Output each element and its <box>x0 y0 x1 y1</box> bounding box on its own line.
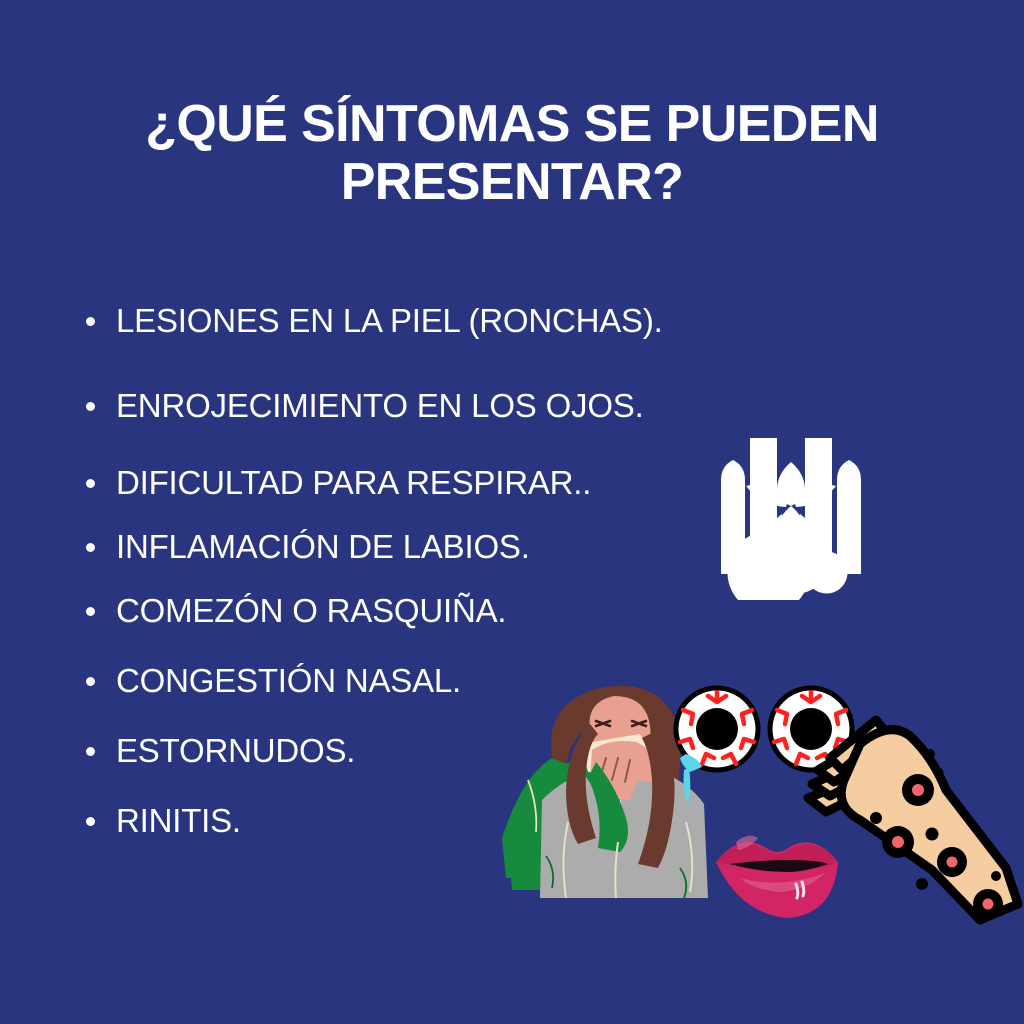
swollen-lips-icon <box>716 836 838 918</box>
page-title: ¿QUÉ SÍNTOMAS SE PUEDEN PRESENTAR? <box>70 95 954 211</box>
list-item-label: ENROJECIMIENTO EN LOS OJOS. <box>116 387 644 424</box>
page-title-line-2: PRESENTAR? <box>70 153 954 211</box>
list-item-label: LESIONES EN LA PIEL (RONCHAS). <box>116 302 663 339</box>
list-item: LESIONES EN LA PIEL (RONCHAS). <box>84 278 804 363</box>
bullet-icon <box>86 402 95 411</box>
bullet-icon <box>86 817 95 826</box>
page-title-line-1: ¿QUÉ SÍNTOMAS SE PUEDEN <box>70 95 954 153</box>
list-item: COMEZÓN O RASQUIÑA. <box>84 576 804 646</box>
list-item: INFLAMACIÓN DE LABIOS. <box>84 518 804 576</box>
list-item-label: INFLAMACIÓN DE LABIOS. <box>116 528 530 565</box>
rash-hand-icon <box>808 720 1018 920</box>
bullet-icon <box>86 317 95 326</box>
bullet-icon <box>86 747 95 756</box>
list-item-label: COMEZÓN O RASQUIÑA. <box>116 592 506 629</box>
bullet-icon <box>86 479 95 488</box>
list-item-label: ESTORNUDOS. <box>116 732 355 769</box>
bullet-icon <box>86 543 95 552</box>
list-item-label: CONGESTIÓN NASAL. <box>116 662 461 699</box>
bullet-icon <box>86 607 95 616</box>
list-item: DIFICULTAD PARA RESPIRAR.. <box>84 448 804 518</box>
list-item-label: RINITIS. <box>116 802 241 839</box>
list-item: ENROJECIMIENTO EN LOS OJOS. <box>84 363 804 448</box>
poster-canvas: ¿QUÉ SÍNTOMAS SE PUEDEN PRESENTAR? LESIO… <box>0 0 1024 1024</box>
list-item-label: DIFICULTAD PARA RESPIRAR.. <box>116 464 591 501</box>
bullet-icon <box>86 677 95 686</box>
allergy-symptoms-illustration <box>440 672 1024 962</box>
institutional-logo-icon <box>716 422 866 600</box>
